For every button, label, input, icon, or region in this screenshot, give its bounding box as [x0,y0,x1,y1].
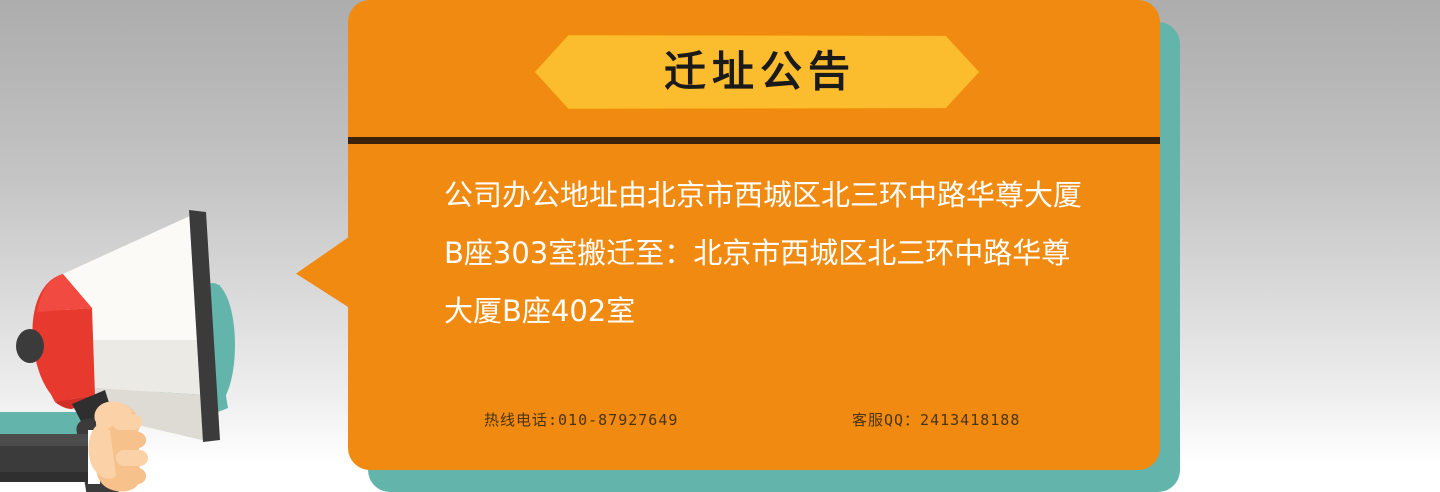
announcement-banner: 迁址公告 公司办公地址由北京市西城区北三环中路华尊大厦B座303室搬迁至：北京市… [0,0,1440,492]
header-divider [348,137,1160,144]
qq-text: 客服QQ：2413418188 [852,408,1020,432]
title-ribbon: 迁址公告 [535,36,979,108]
announcement-body: 公司办公地址由北京市西城区北三环中路华尊大厦B座303室搬迁至：北京市西城区北三… [444,166,1096,340]
page-title: 迁址公告 [658,51,856,93]
footer-contacts: 热线电话:010-87927649 客服QQ：2413418188 [348,408,1160,436]
arm-sleeve [0,430,100,484]
megaphone-illustration [0,190,300,492]
hotline-text: 热线电话:010-87927649 [484,408,678,432]
announcement-card: 迁址公告 公司办公地址由北京市西城区北三环中路华尊大厦B座303室搬迁至：北京市… [348,0,1160,470]
speech-tail [296,232,356,312]
